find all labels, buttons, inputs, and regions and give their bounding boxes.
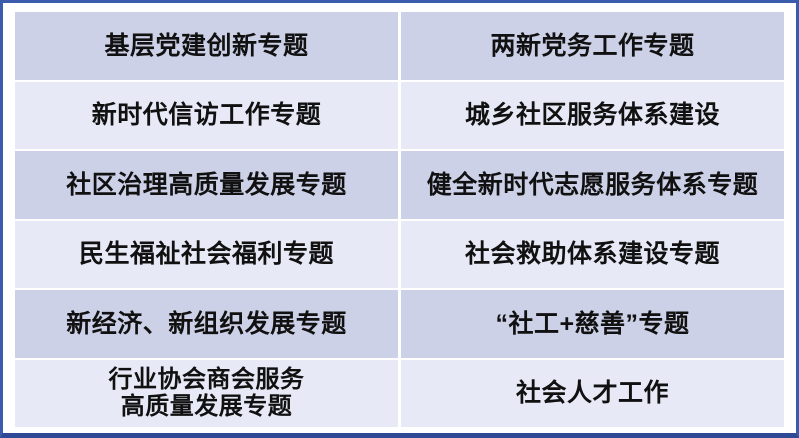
- topic-row: 基层党建创新专题 两新党务工作专题: [15, 12, 784, 80]
- topic-cell-r6c2[interactable]: 社会人才工作: [401, 360, 784, 428]
- topic-cell-r2c1[interactable]: 新时代信访工作专题: [15, 82, 398, 150]
- topic-cell-r3c1[interactable]: 社区治理高质量发展专题: [15, 151, 398, 219]
- topic-row: 新时代信访工作专题 城乡社区服务体系建设: [15, 82, 784, 150]
- topic-grid-panel: 基层党建创新专题 两新党务工作专题 新时代信访工作专题 城乡社区服务体系建设 社…: [0, 0, 799, 438]
- topic-cell-r6c1[interactable]: 行业协会商会服务 高质量发展专题: [15, 360, 398, 428]
- topic-row: 行业协会商会服务 高质量发展专题 社会人才工作: [15, 360, 784, 428]
- topic-cell-r4c1[interactable]: 民生福祉社会福利专题: [15, 221, 398, 289]
- topic-cell-r1c1[interactable]: 基层党建创新专题: [15, 12, 398, 80]
- topic-cell-r5c1[interactable]: 新经济、新组织发展专题: [15, 290, 398, 358]
- topic-cell-r1c2[interactable]: 两新党务工作专题: [401, 12, 784, 80]
- topic-cell-r5c2[interactable]: “社工+慈善”专题: [401, 290, 784, 358]
- topic-row: 民生福祉社会福利专题 社会救助体系建设专题: [15, 221, 784, 289]
- topic-row: 社区治理高质量发展专题 健全新时代志愿服务体系专题: [15, 151, 784, 219]
- topic-cell-r2c2[interactable]: 城乡社区服务体系建设: [401, 82, 784, 150]
- topic-cell-r3c2[interactable]: 健全新时代志愿服务体系专题: [401, 151, 784, 219]
- topic-row: 新经济、新组织发展专题 “社工+慈善”专题: [15, 290, 784, 358]
- topic-grid: 基层党建创新专题 两新党务工作专题 新时代信访工作专题 城乡社区服务体系建设 社…: [15, 12, 784, 427]
- topic-cell-r4c2[interactable]: 社会救助体系建设专题: [401, 221, 784, 289]
